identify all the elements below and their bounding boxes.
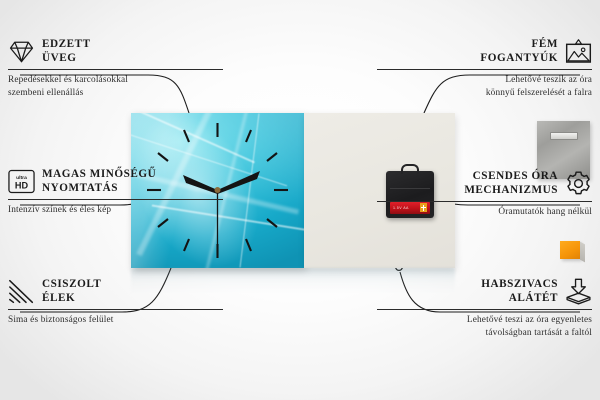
ultra-hd-icon: ultra HD (8, 168, 35, 195)
feature-divider (377, 309, 592, 310)
feature-divider (8, 309, 223, 310)
feature-high-quality-print: ultra HD MAGAS MINŐSÉGŰ NYOMTATÁS Intenz… (8, 168, 223, 217)
feature-header: HABSZIVACS ALÁTÉT (377, 278, 592, 305)
feature-description: Lehetővé teszik az óra könnyű felszerelé… (377, 74, 592, 99)
foam-pad-side (580, 242, 585, 263)
tick-mark (158, 153, 168, 161)
feature-description-line1: Óramutatók hang nélkül (377, 206, 592, 218)
feature-title: EDZETT ÜVEG (42, 38, 91, 65)
feature-title-line2: ÉLEK (42, 292, 101, 306)
hd-label: HD (15, 181, 29, 191)
feature-title: CSISZOLT ÉLEK (42, 278, 101, 305)
feature-description: Óramutatók hang nélkül (377, 206, 592, 218)
feature-header: ultra HD MAGAS MINŐSÉGŰ NYOMTATÁS (8, 168, 223, 195)
feature-tempered-glass: EDZETT ÜVEG Repedésekkel és karcolásokka… (8, 38, 223, 99)
feature-title-line2: MECHANIZMUS (464, 184, 558, 198)
hanger-slot (550, 132, 578, 140)
feature-title: MAGAS MINŐSÉGŰ NYOMTATÁS (42, 168, 156, 195)
feature-polished-edges: CSISZOLT ÉLEK Sima és biztonságos felüle… (8, 278, 223, 327)
feature-header: CSENDES ÓRA MECHANIZMUS (377, 170, 592, 197)
feature-divider (8, 69, 223, 70)
feature-title-line1: CSENDES ÓRA (464, 170, 558, 184)
feature-title-line1: MAGAS MINŐSÉGŰ (42, 168, 156, 182)
diamond-icon (8, 38, 35, 65)
feature-title: CSENDES ÓRA MECHANIZMUS (464, 170, 558, 197)
feature-title-line1: FÉM (480, 38, 558, 52)
feature-title-line1: EDZETT (42, 38, 91, 52)
feature-description: Repedésekkel és karcolásokkal szembeni e… (8, 74, 223, 99)
feature-divider (377, 201, 592, 202)
tick-mark (158, 219, 168, 227)
feature-description: Sima és biztonságos felület (8, 314, 223, 326)
feature-description-line1: Intenzív színek és éles kép (8, 204, 223, 216)
infographic-stage: 1.5V AA EDZETT ÜVEG (0, 0, 600, 400)
tick-mark (267, 153, 277, 161)
foam-pad-icon (565, 278, 592, 305)
feature-title: FÉM FOGANTYÚK (480, 38, 558, 65)
tick-mark (267, 219, 277, 227)
feature-title-line2: FOGANTYÚK (480, 52, 558, 66)
feature-divider (8, 199, 223, 200)
picture-frame-icon (565, 38, 592, 65)
feature-header: CSISZOLT ÉLEK (8, 278, 223, 305)
feature-description-line1: Lehetővé teszik az óra (377, 74, 592, 86)
feature-title-line2: ÜVEG (42, 52, 91, 66)
feature-title-line2: ALÁTÉT (481, 292, 558, 306)
feature-title-line1: HABSZIVACS (481, 278, 558, 292)
foam-pad-part (560, 241, 580, 259)
feature-description: Intenzív színek és éles kép (8, 204, 223, 216)
tick-mark (246, 239, 251, 251)
feature-silent-mechanism: CSENDES ÓRA MECHANIZMUS Óramutatók hang … (377, 170, 592, 219)
minute-hand (218, 171, 261, 194)
gear-icon (565, 170, 592, 197)
feature-title-line2: NYOMTATÁS (42, 182, 156, 196)
feature-foam-pad: HABSZIVACS ALÁTÉT Lehetővé teszi az óra … (377, 278, 592, 339)
feature-title: HABSZIVACS ALÁTÉT (481, 278, 558, 305)
polished-edges-icon (8, 278, 35, 305)
feature-header: EDZETT ÜVEG (8, 38, 223, 65)
feature-description-line2: szembeni ellenállás (8, 87, 223, 99)
feature-description-line1: Lehetővé teszi az óra egyenletes (377, 314, 592, 326)
tick-mark (246, 130, 251, 142)
tick-mark (184, 130, 189, 142)
feature-header: FÉM FOGANTYÚK (377, 38, 592, 65)
feature-description-line2: könnyű felszerelését a falra (377, 87, 592, 99)
feature-divider (377, 69, 592, 70)
feature-title-line1: CSISZOLT (42, 278, 101, 292)
feature-description-line2: távolságban tartását a faltól (377, 327, 592, 339)
feature-description-line1: Sima és biztonságos felület (8, 314, 223, 326)
feature-description-line1: Repedésekkel és karcolásokkal (8, 74, 223, 86)
tick-mark (184, 239, 189, 251)
feature-description: Lehetővé teszi az óra egyenletes távolsá… (377, 314, 592, 339)
feature-metal-handles: FÉM FOGANTYÚK Lehetővé teszik az óra kön… (377, 38, 592, 99)
